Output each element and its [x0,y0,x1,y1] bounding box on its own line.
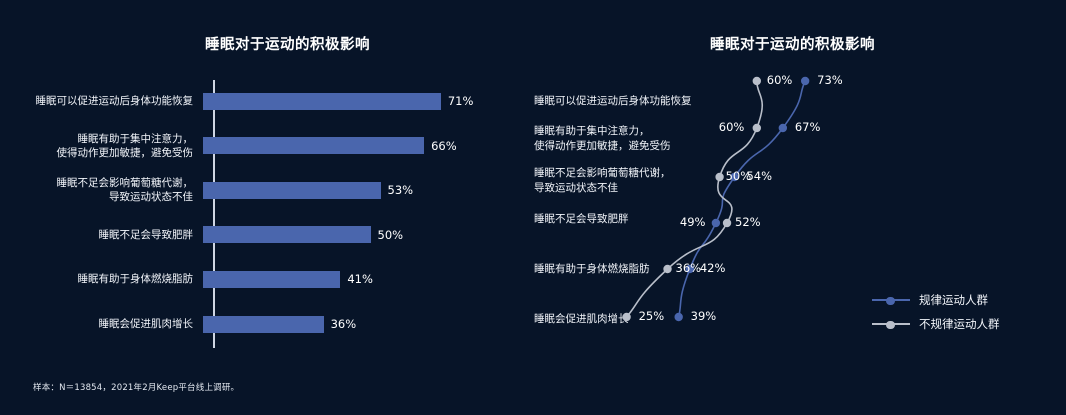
bar-track: 53% [203,168,520,212]
bar-row: 睡眠可以促进运动后身体功能恢复71% [0,79,520,123]
line-data-point [801,77,809,85]
line-point-value-label: 25% [639,309,665,323]
bar-fill [203,182,381,199]
bar-value-label: 50% [378,228,404,242]
bar-fill [203,93,441,110]
bar-track: 41% [203,257,520,301]
bar-category-label: 睡眠有助于集中注意力， 使得动作更加敏捷，避免受伤 [0,132,203,160]
bar-fill [203,226,371,243]
legend-marker-icon [872,295,910,305]
legend-label: 规律运动人群 [919,292,988,308]
line-point-value-label: 39% [691,309,717,323]
legend-dot-icon [886,321,895,330]
legend-marker-icon [872,319,910,329]
bar-value-label: 36% [331,317,357,331]
line-data-point [753,124,761,132]
bar-category-label: 睡眠有助于身体燃烧脂肪 [0,272,203,286]
line-point-value-label: 73% [817,73,843,87]
line-data-point [712,219,720,227]
line-chart-panel: 睡眠对于运动的积极影响 睡眠可以促进运动后身体功能恢复睡眠有助于集中注意力， 使… [520,0,1066,415]
bar-value-label: 66% [431,139,457,153]
legend-label: 不规律运动人群 [919,316,1000,332]
bar-row: 睡眠有助于身体燃烧脂肪41% [0,257,520,301]
bar-row: 睡眠不足会影响葡萄糖代谢， 导致运动状态不佳53% [0,168,520,212]
bar-chart-title: 睡眠对于运动的积极影响 [205,33,370,54]
bar-value-label: 71% [448,94,474,108]
slide-background: 睡眠对于运动的积极影响 睡眠可以促进运动后身体功能恢复71%睡眠有助于集中注意力… [0,0,1066,415]
line-point-value-label: 36% [676,261,702,275]
line-chart-plot [520,0,1066,415]
footnote-source: 样本：N＝13854，2021年2月Keep平台线上调研。 [33,381,239,393]
line-point-value-label: 52% [735,215,761,229]
line-point-value-label: 49% [680,215,706,229]
legend-item[interactable]: 规律运动人群 [872,288,1000,312]
bar-row: 睡眠有助于集中注意力， 使得动作更加敏捷，避免受伤66% [0,124,520,168]
bar-category-label: 睡眠可以促进运动后身体功能恢复 [0,94,203,108]
bar-fill [203,271,340,288]
line-point-value-label: 67% [795,120,821,134]
line-data-point [663,265,671,273]
line-series-path [627,81,763,317]
line-series-path [679,81,805,317]
line-point-value-label: 50% [726,169,752,183]
bar-track: 36% [203,302,520,346]
bar-fill [203,316,324,333]
line-chart-legend: 规律运动人群不规律运动人群 [872,288,1000,336]
line-data-point [723,219,731,227]
bar-track: 66% [203,124,520,168]
bar-row: 睡眠不足会导致肥胖50% [0,213,520,257]
bar-category-label: 睡眠不足会影响葡萄糖代谢， 导致运动状态不佳 [0,176,203,204]
line-data-point [622,313,630,321]
line-point-value-label: 42% [700,261,726,275]
line-point-value-label: 60% [719,120,745,134]
legend-dot-icon [886,297,895,306]
line-data-point [715,173,723,181]
bar-category-label: 睡眠不足会导致肥胖 [0,228,203,242]
bar-track: 71% [203,79,520,123]
bar-value-label: 53% [388,183,414,197]
bar-category-label: 睡眠会促进肌肉增长 [0,317,203,331]
line-data-point [779,124,787,132]
line-point-value-label: 60% [767,73,793,87]
bar-chart-panel: 睡眠对于运动的积极影响 睡眠可以促进运动后身体功能恢复71%睡眠有助于集中注意力… [0,0,520,415]
line-data-point [753,77,761,85]
bar-row: 睡眠会促进肌肉增长36% [0,302,520,346]
bar-track: 50% [203,213,520,257]
line-data-point [674,313,682,321]
bar-value-label: 41% [347,272,373,286]
legend-item[interactable]: 不规律运动人群 [872,312,1000,336]
bar-fill [203,137,424,154]
